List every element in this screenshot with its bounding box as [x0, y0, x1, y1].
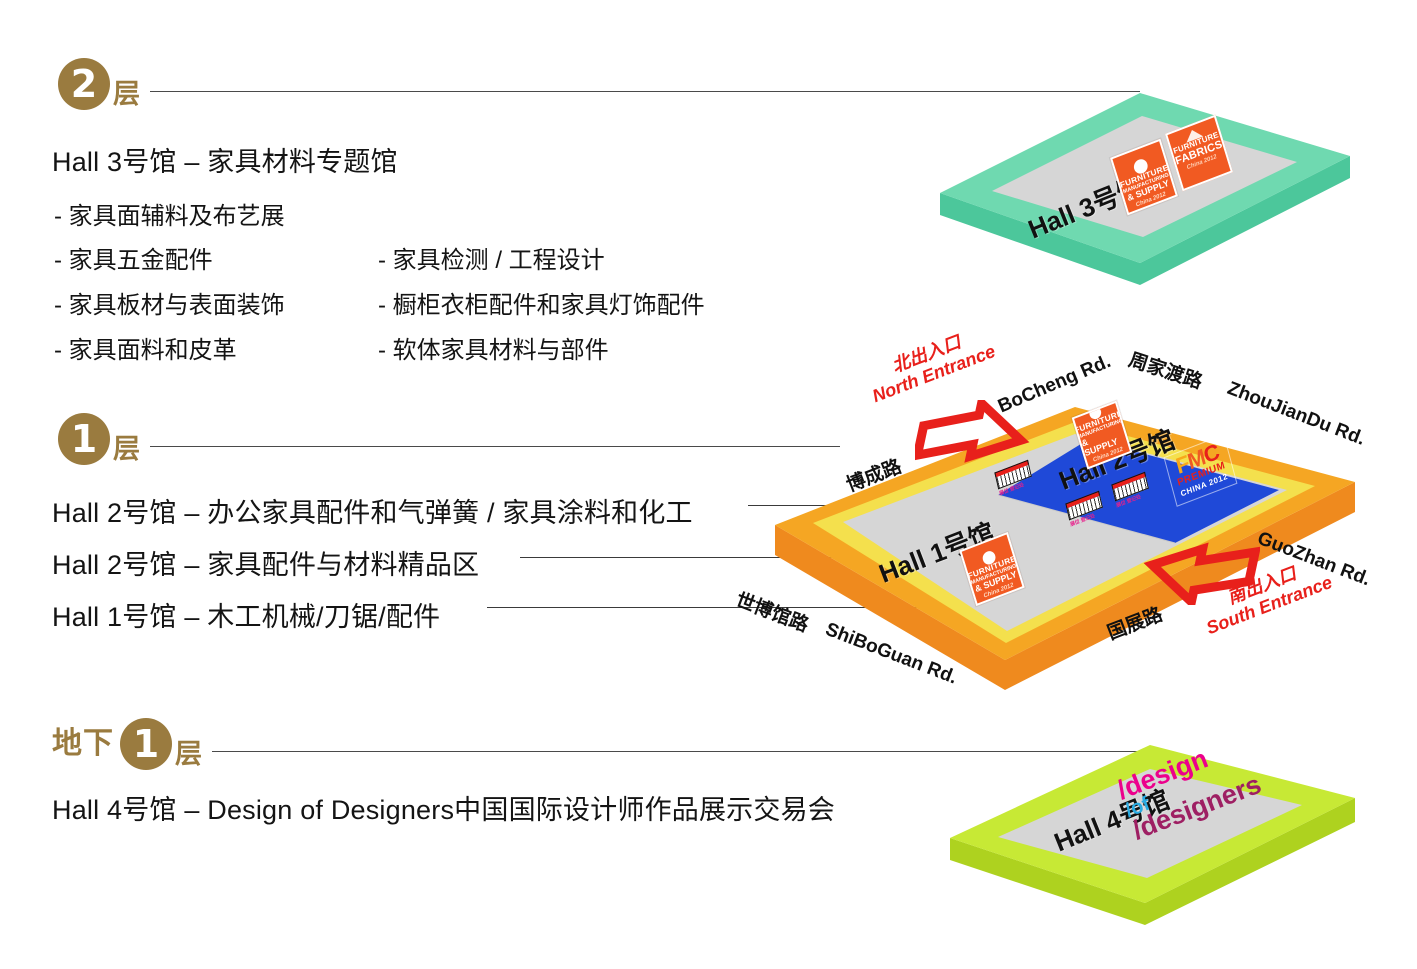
- floor-marker-1: 1 层: [52, 413, 840, 465]
- floor-suffix-1: 层: [113, 436, 140, 463]
- floor-rule-1: [150, 446, 840, 447]
- floor1-hall-2: Hall 1号馆 – 木工机械/刀锯/配件: [52, 595, 440, 634]
- hall3-bullet-r2: - 橱柜衣柜配件和家具灯饰配件: [378, 285, 705, 320]
- hall4-title: Hall 4号馆 – Design of Designers中国国际设计师作品展…: [52, 788, 835, 827]
- hall3-bullet-r3: - 软体家具材料与部件: [378, 330, 609, 365]
- floor-number-b1: 1: [120, 718, 172, 770]
- floor-number-2: 2: [58, 58, 110, 110]
- floor-suffix-2: 层: [113, 81, 140, 108]
- hall3-bullet-1: - 家具五金配件: [54, 240, 213, 275]
- floor-suffix-b1: 层: [175, 741, 202, 768]
- floor-number-1: 1: [58, 413, 110, 465]
- hall3-bullet-2: - 家具板材与表面装饰: [54, 285, 285, 320]
- floor1-hall-0: Hall 2号馆 – 办公家具配件和气弹簧 / 家具涂料和化工: [52, 491, 693, 530]
- hall3-title: Hall 3号馆 – 家具材料专题馆: [52, 140, 398, 179]
- floor1-hall-1: Hall 2号馆 – 家具配件与材料精品区: [52, 543, 479, 582]
- hall3-bullet-r1: - 家具检测 / 工程设计: [378, 240, 605, 275]
- hall3-bullet-0: - 家具面辅料及布艺展: [54, 196, 285, 231]
- floor-prefix-b1: 地下: [52, 729, 114, 759]
- floorplan-canvas: 2 层 Hall 3号馆 – 家具材料专题馆 - 家具面辅料及布艺展 - 家具五…: [0, 0, 1417, 969]
- hall3-bullet-3: - 家具面料和皮革: [54, 330, 237, 365]
